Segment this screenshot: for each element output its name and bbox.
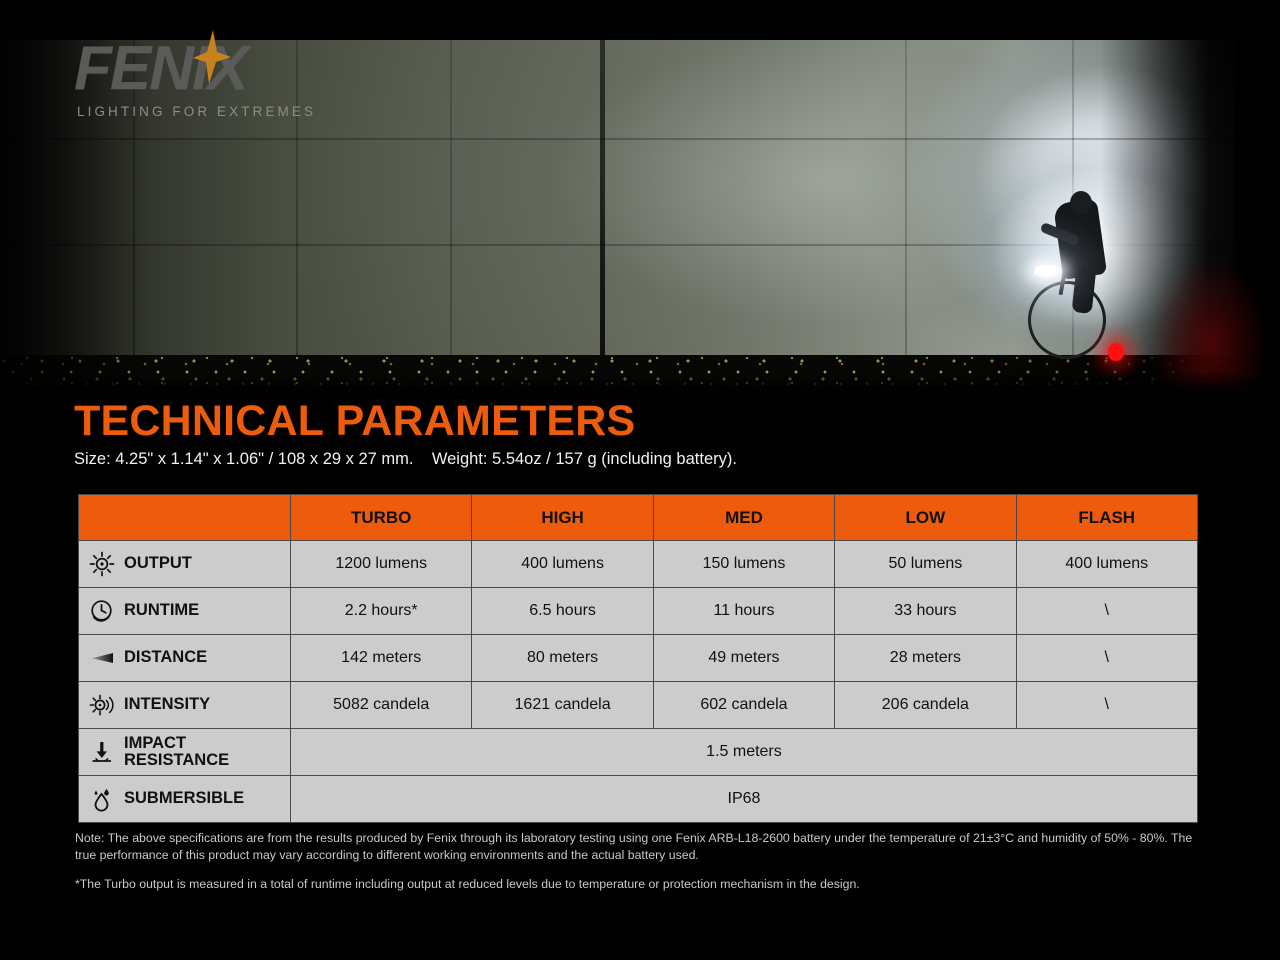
specs-table: TURBO HIGH MED LOW FLASH bbox=[78, 494, 1198, 823]
cell-runtime-med: 11 hours bbox=[653, 588, 834, 635]
row-label-text: OUTPUT bbox=[124, 555, 192, 572]
column-header-turbo: TURBO bbox=[291, 495, 472, 541]
cell-distance-high: 80 meters bbox=[472, 635, 653, 682]
footnotes: Note: The above specifications are from … bbox=[75, 830, 1200, 893]
cell-distance-flash: \ bbox=[1016, 635, 1197, 682]
bike-headlight-icon bbox=[1034, 265, 1060, 277]
brand-tagline: LIGHTING FOR EXTREMES bbox=[77, 104, 374, 119]
row-label-impact-resistance: IMPACTRESISTANCE bbox=[79, 729, 291, 776]
table-body: OUTPUT 1200 lumens 400 lumens 150 lumens… bbox=[79, 541, 1198, 823]
slide-root: FENIX LIGHTING FOR EXTREMES TECHNICAL PA… bbox=[0, 0, 1280, 960]
fenix-logo: FENIX LIGHTING FOR EXTREMES bbox=[74, 38, 374, 138]
header-row: TURBO HIGH MED LOW FLASH bbox=[79, 495, 1198, 541]
row-label-runtime: RUNTIME bbox=[79, 588, 291, 635]
cell-intensity-flash: \ bbox=[1016, 682, 1197, 729]
column-header-med: MED bbox=[653, 495, 834, 541]
cell-distance-low: 28 meters bbox=[835, 635, 1016, 682]
bike-taillight-icon bbox=[1108, 343, 1124, 361]
row-label-submersible: SUBMERSIBLE bbox=[79, 776, 291, 823]
table-row: INTENSITY 5082 candela 1621 candela 602 … bbox=[79, 682, 1198, 729]
cell-output-turbo: 1200 lumens bbox=[291, 541, 472, 588]
cyclist-figure bbox=[1030, 195, 1190, 355]
impact-label-line2: RESISTANCE bbox=[124, 751, 229, 769]
cell-submersible-value: IP68 bbox=[291, 776, 1198, 823]
cell-intensity-med: 602 candela bbox=[653, 682, 834, 729]
row-label-text: IMPACTRESISTANCE bbox=[124, 735, 229, 770]
cell-output-flash: 400 lumens bbox=[1016, 541, 1197, 588]
cell-runtime-high: 6.5 hours bbox=[472, 588, 653, 635]
impact-label-line1: IMPACT bbox=[124, 734, 186, 752]
beam-cone-distance-icon bbox=[89, 645, 115, 671]
page-title: TECHNICAL PARAMETERS bbox=[74, 397, 635, 446]
table-row: RUNTIME 2.2 hours* 6.5 hours 11 hours 33… bbox=[79, 588, 1198, 635]
sun-output-icon bbox=[89, 551, 115, 577]
note-primary: Note: The above specifications are from … bbox=[75, 830, 1200, 865]
column-header-high: HIGH bbox=[472, 495, 653, 541]
cell-distance-med: 49 meters bbox=[653, 635, 834, 682]
column-header-low: LOW bbox=[835, 495, 1016, 541]
table-row: OUTPUT 1200 lumens 400 lumens 150 lumens… bbox=[79, 541, 1198, 588]
wall-seam bbox=[600, 30, 605, 360]
cell-output-low: 50 lumens bbox=[835, 541, 1016, 588]
bicycle-wheel bbox=[1028, 281, 1106, 359]
row-label-distance: DISTANCE bbox=[79, 635, 291, 682]
table-header: TURBO HIGH MED LOW FLASH bbox=[79, 495, 1198, 541]
rider-head bbox=[1070, 191, 1092, 215]
wall-seam bbox=[450, 30, 452, 360]
table-row: SUBMERSIBLE IP68 bbox=[79, 776, 1198, 823]
cell-runtime-low: 33 hours bbox=[835, 588, 1016, 635]
row-label-text: SUBMERSIBLE bbox=[124, 790, 244, 807]
table-row: DISTANCE 142 meters 80 meters 49 meters … bbox=[79, 635, 1198, 682]
clock-runtime-icon bbox=[89, 598, 115, 624]
row-label-output: OUTPUT bbox=[79, 541, 291, 588]
column-header-flash: FLASH bbox=[1016, 495, 1197, 541]
impact-arrow-icon bbox=[89, 739, 115, 765]
cell-intensity-turbo: 5082 candela bbox=[291, 682, 472, 729]
note-turbo-asterisk: *The Turbo output is measured in a total… bbox=[75, 876, 1200, 893]
cell-runtime-flash: \ bbox=[1016, 588, 1197, 635]
cell-output-high: 400 lumens bbox=[472, 541, 653, 588]
row-label-text: RUNTIME bbox=[124, 602, 199, 619]
row-label-text: DISTANCE bbox=[124, 649, 207, 666]
cell-runtime-turbo: 2.2 hours* bbox=[291, 588, 472, 635]
water-drop-icon bbox=[89, 786, 115, 812]
cell-distance-turbo: 142 meters bbox=[291, 635, 472, 682]
star-sparkle-icon bbox=[191, 30, 231, 84]
cell-intensity-low: 206 candela bbox=[835, 682, 1016, 729]
cell-impact-resistance-value: 1.5 meters bbox=[291, 729, 1198, 776]
row-label-intensity: INTENSITY bbox=[79, 682, 291, 729]
cell-output-med: 150 lumens bbox=[653, 541, 834, 588]
photo-bottom-fade bbox=[0, 372, 1280, 393]
table-row: IMPACTRESISTANCE 1.5 meters bbox=[79, 729, 1198, 776]
corner-cell bbox=[79, 495, 291, 541]
cell-intensity-high: 1621 candela bbox=[472, 682, 653, 729]
size-weight-line: Size: 4.25" x 1.14" x 1.06" / 108 x 29 x… bbox=[74, 450, 737, 469]
row-label-text: INTENSITY bbox=[124, 696, 210, 713]
beam-intensity-icon bbox=[89, 692, 115, 718]
